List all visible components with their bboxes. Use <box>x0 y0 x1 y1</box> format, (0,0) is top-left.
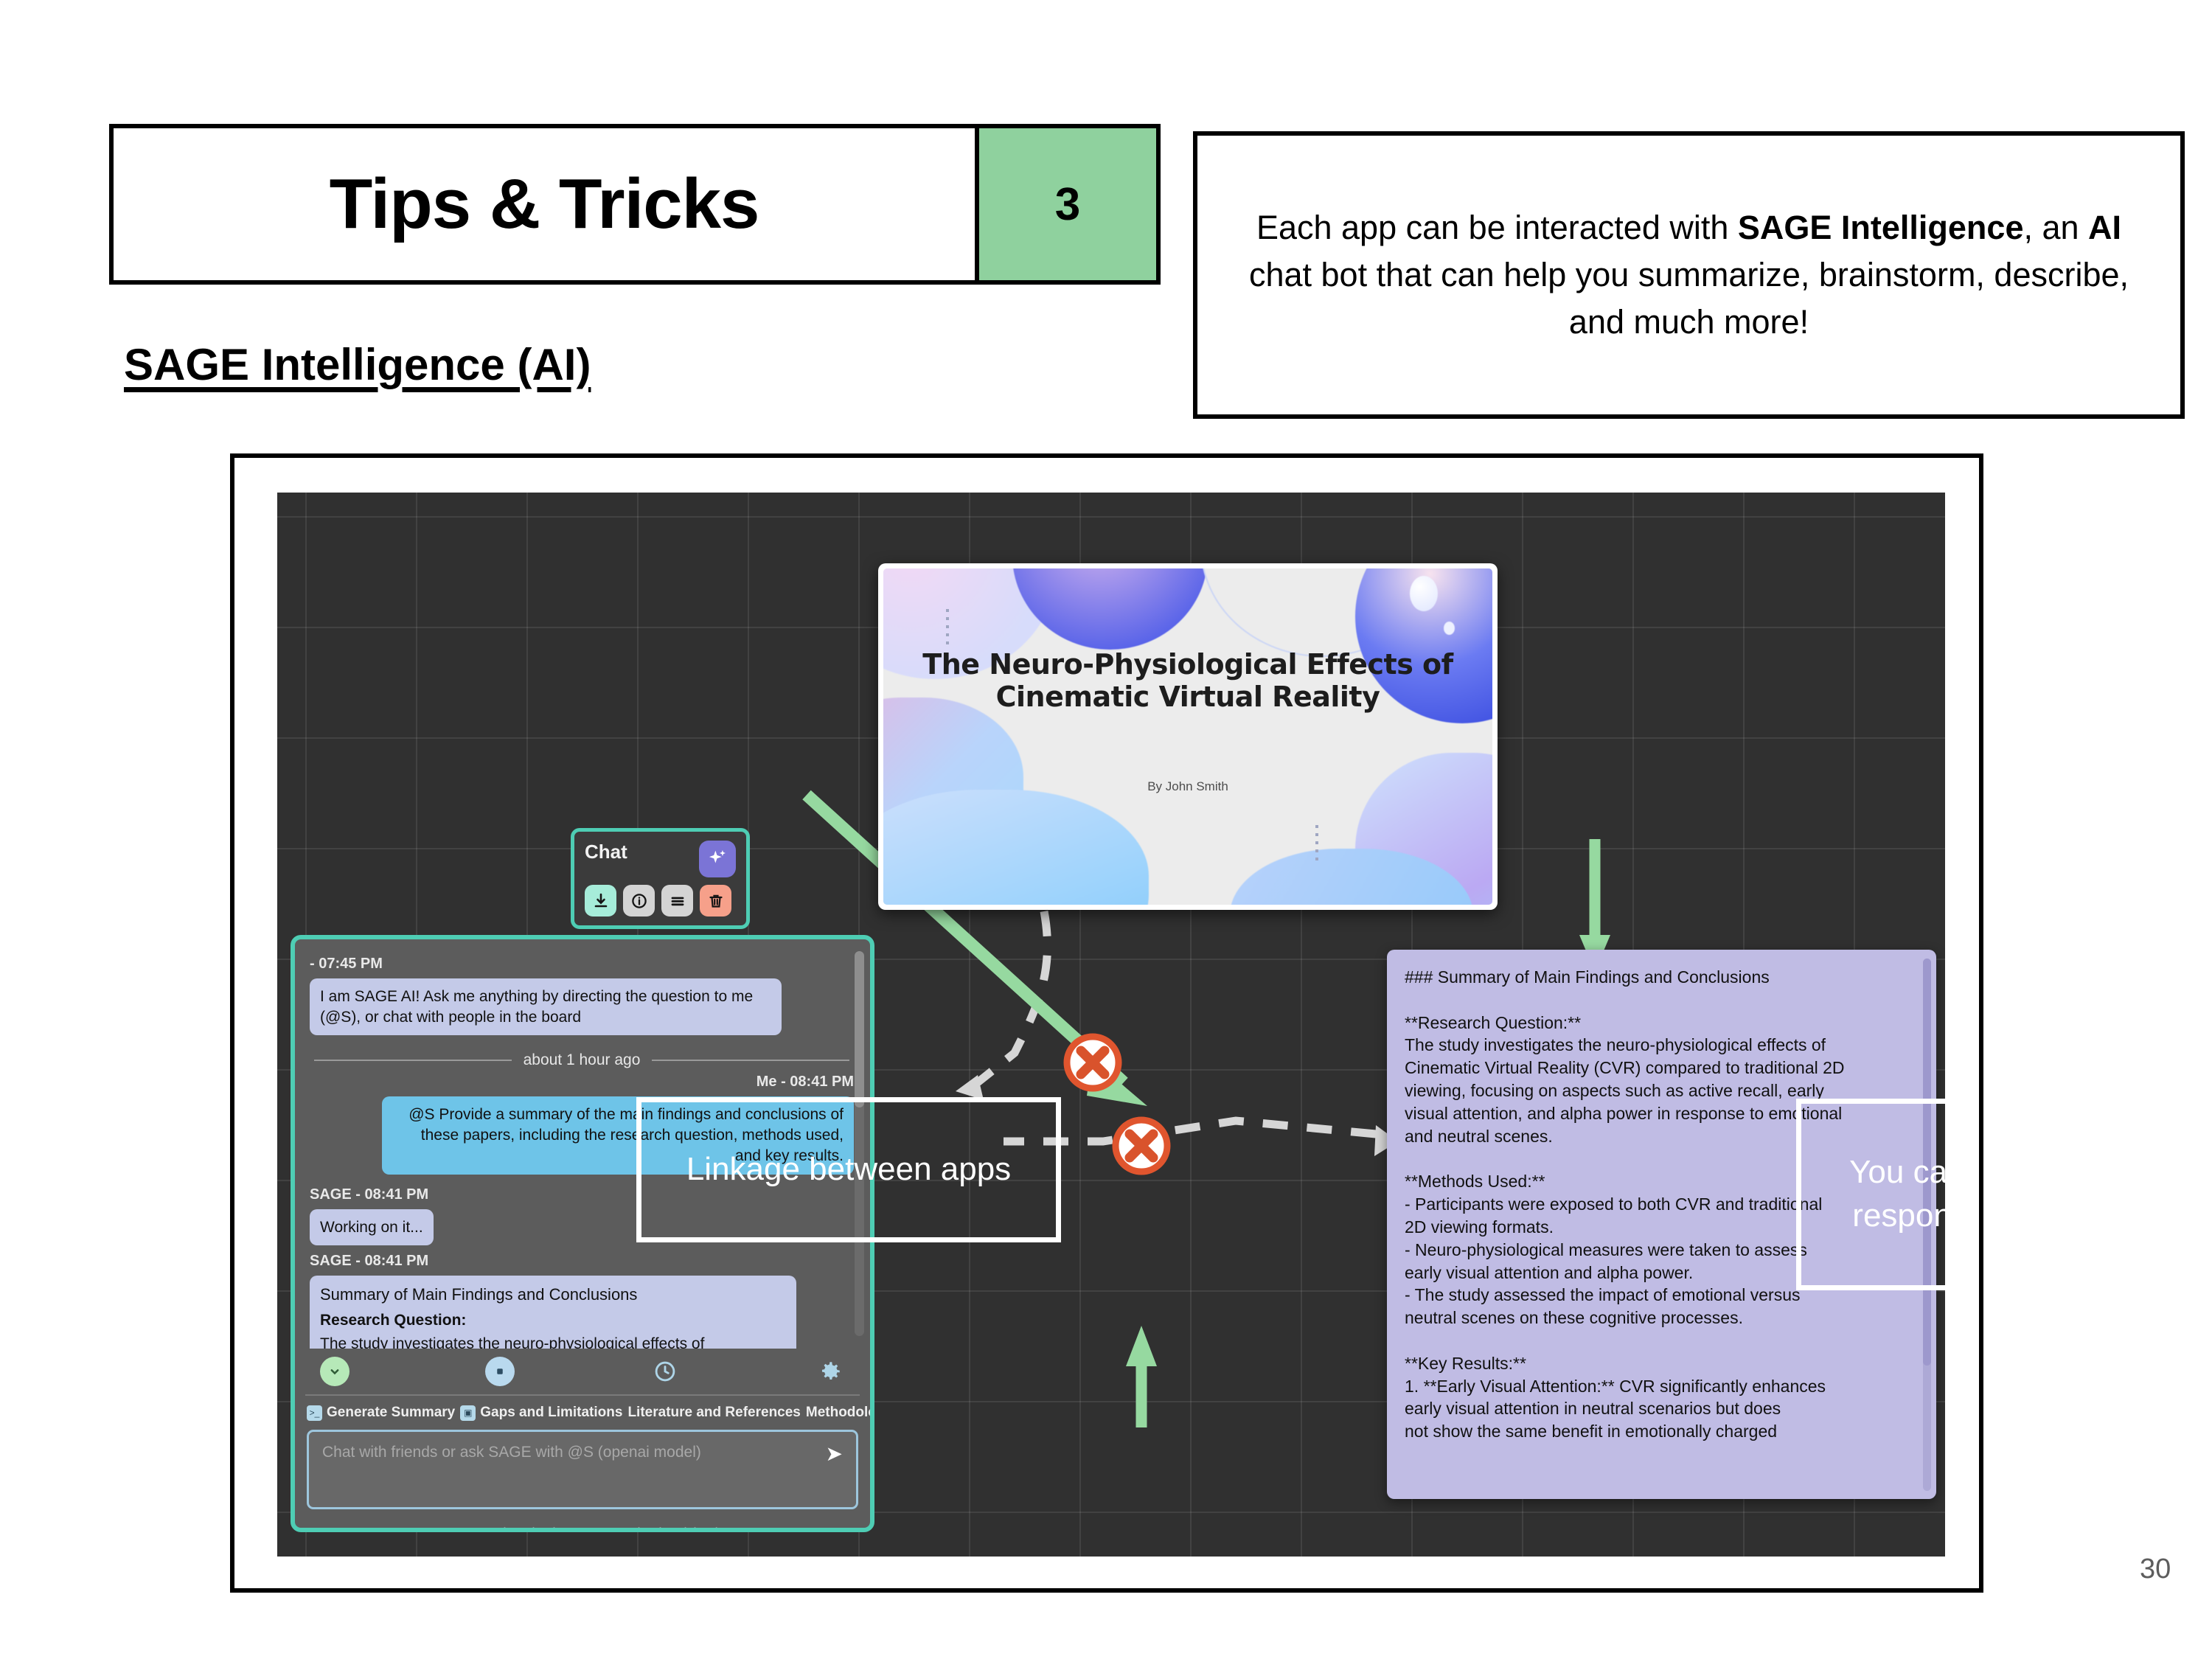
callout-text: Each app can be interacted with SAGE Int… <box>1231 204 2146 346</box>
refresh-icon[interactable] <box>650 1357 680 1386</box>
time-divider: about 1 hour ago <box>314 1051 849 1069</box>
terminal-icon: >_ <box>307 1405 322 1421</box>
message-body: The study investigates the neuro-physiol… <box>320 1334 786 1349</box>
send-arrow-icon[interactable]: ➤ <box>826 1444 843 1464</box>
message-bubble: Summary of Main Findings and Conclusions… <box>310 1276 796 1349</box>
stop-square-icon[interactable] <box>485 1357 515 1386</box>
annotation-drag-out-stickies: You can even drag out responses as stick… <box>1796 1099 1945 1290</box>
presentation-author: By John Smith <box>883 779 1492 794</box>
chat-message: SAGE - 08:41 PM Summary of Main Findings… <box>310 1253 854 1349</box>
page-number: 30 <box>2140 1554 2171 1585</box>
quick-prompt-label: Gaps and Limitations <box>480 1405 622 1421</box>
chat-widget-header[interactable]: Chat <box>571 828 750 929</box>
message-bubble: I am SAGE AI! Ask me anything by directi… <box>310 978 782 1035</box>
trash-icon[interactable] <box>700 885 731 917</box>
gear-icon[interactable] <box>815 1357 845 1386</box>
chat-widget-label: Chat <box>585 841 627 863</box>
info-icon[interactable] <box>623 885 655 917</box>
message-title: Summary of Main Findings and Conclusions <box>320 1284 786 1305</box>
chevron-down-icon[interactable] <box>320 1357 349 1386</box>
slide-root: Tips & Tricks 3 SAGE Intelligence (AI) E… <box>0 0 2212 1659</box>
chat-action-icons <box>295 1349 870 1394</box>
screenshot-frame: The Neuro-Physiological Effects of Cinem… <box>230 453 1983 1593</box>
presentation-slide: The Neuro-Physiological Effects of Cinem… <box>883 568 1492 905</box>
chat-message: - 07:45 PM I am SAGE AI! Ask me anything… <box>310 956 854 1035</box>
decorative-blob <box>1444 622 1455 635</box>
menu-icon[interactable] <box>661 885 693 917</box>
chat-scrollbar-thumb[interactable] <box>855 951 864 1107</box>
decorative-blob <box>1012 568 1208 650</box>
page-title: Tips & Tricks <box>330 164 759 245</box>
quick-prompt-label: Methodology Analysis <box>806 1405 870 1421</box>
message-bubble: Working on it... <box>310 1209 434 1246</box>
quick-prompt-gaps-and-limitations[interactable]: ▣ Gaps and Limitations <box>460 1405 622 1421</box>
divider-line <box>652 1060 849 1061</box>
chat-disclaimer: AI can make mistakes. User caution is ad… <box>295 1509 870 1532</box>
annotation-linkage-between-apps: Linkage between apps <box>636 1097 1061 1242</box>
message-subhead: Research Question: <box>320 1310 786 1331</box>
section-number: 3 <box>1055 178 1080 231</box>
message-meta: SAGE - 08:41 PM <box>310 1253 854 1270</box>
quick-prompt-methodology-analysis[interactable]: Methodology Analysis <box>806 1405 870 1421</box>
header-title-box: Tips & Tricks <box>109 124 979 285</box>
quick-prompt-label: Literature and References <box>627 1405 800 1421</box>
time-divider-label: about 1 hour ago <box>524 1051 641 1069</box>
divider-line <box>314 1060 512 1061</box>
quick-prompt-literature-and-references[interactable]: Literature and References <box>627 1405 800 1421</box>
dotted-accent <box>946 609 949 647</box>
presentation-title: The Neuro-Physiological Effects of Cinem… <box>883 648 1492 713</box>
quick-prompt-label: Generate Summary <box>327 1405 455 1421</box>
board-canvas[interactable]: The Neuro-Physiological Effects of Cinem… <box>277 493 1945 1557</box>
sparkle-icon[interactable] <box>699 841 736 877</box>
message-meta: - 07:45 PM <box>310 956 854 973</box>
chat-input[interactable]: Chat with friends or ask SAGE with @S (o… <box>307 1430 858 1509</box>
dotted-accent <box>1315 825 1318 863</box>
callout-box: Each app can be interacted with SAGE Int… <box>1193 131 2185 419</box>
chat-input-placeholder: Chat with friends or ask SAGE with @S (o… <box>322 1444 701 1461</box>
download-icon[interactable] <box>585 885 616 917</box>
quick-prompt-generate-summary[interactable]: >_ Generate Summary <box>307 1405 455 1421</box>
presentation-app[interactable]: The Neuro-Physiological Effects of Cinem… <box>878 563 1498 910</box>
decorative-blob <box>1410 576 1438 611</box>
section-number-badge: 3 <box>975 124 1161 285</box>
doc-icon: ▣ <box>460 1405 476 1421</box>
decorative-blob <box>883 790 1149 905</box>
quick-prompt-row: >_ Generate Summary ▣ Gaps and Limitatio… <box>295 1396 870 1428</box>
section-subtitle: SAGE Intelligence (AI) <box>124 339 591 390</box>
message-meta: Me - 08:41 PM <box>310 1074 854 1091</box>
